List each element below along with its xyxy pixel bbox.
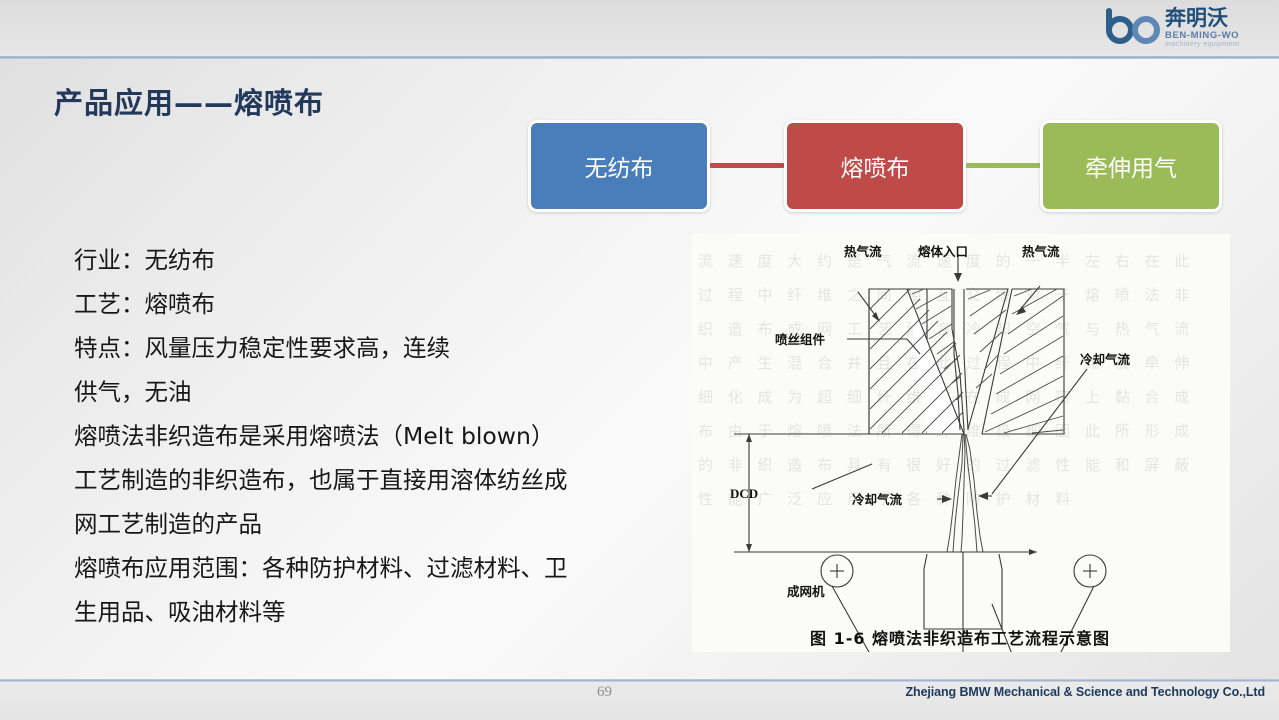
flow-box-meltblown[interactable]: 熔喷布 [784, 120, 966, 212]
body-line: 行业：无纺布 [74, 238, 674, 282]
body-text-block: 行业：无纺布 工艺：熔喷布 特点：风量压力稳定性要求高，连续 供气，无油 熔喷法… [74, 238, 674, 634]
figure-label-web-former-main: 成网机 [787, 584, 825, 599]
company-footer-text: Zhejiang BMW Mechanical & Science and Te… [906, 685, 1266, 699]
page-number: 69 [597, 684, 612, 701]
flow-connector-2 [966, 163, 1040, 168]
body-line: 熔喷法非织造布是采用熔喷法（Melt blown） [74, 414, 674, 458]
body-line: 特点：风量压力稳定性要求高，连续 [74, 326, 674, 370]
body-line: 熔喷布应用范围：各种防护材料、过滤材料、卫 [74, 546, 674, 590]
header-divider-line [0, 56, 1279, 59]
logo-text: 奔明沃 BEN-MING-WO machinery equipment [1165, 8, 1240, 49]
flow-box-nonwoven[interactable]: 无纺布 [528, 120, 710, 212]
figure-label-melt-inlet: 熔体入口 [918, 244, 968, 259]
logo-chinese-name: 奔明沃 [1165, 8, 1240, 29]
logo-pinyin: BEN-MING-WO [1165, 31, 1240, 41]
body-line: 工艺：熔喷布 [74, 282, 674, 326]
figure-label-cooling-air-right: 冷却气流 [1080, 352, 1131, 367]
process-flow-diagram: 无纺布 熔喷布 牵伸用气 [520, 116, 1232, 218]
body-line: 网工艺制造的产品 [74, 502, 674, 546]
flow-connector-1 [710, 163, 784, 168]
body-line: 生用品、吸油材料等 [74, 590, 674, 634]
body-line: 工艺制造的非织造布，也属于直接用溶体纺丝成 [74, 458, 674, 502]
figure-label-dcd: DCD [730, 486, 758, 501]
bo-monogram-icon [1103, 8, 1163, 48]
body-line: 供气，无油 [74, 370, 674, 414]
figure-label-cooling-air-center: 冷却气流 [852, 492, 903, 507]
header-band [0, 0, 1279, 57]
figure-label-spinneret: 喷丝组件 [775, 332, 826, 347]
page-title: 产品应用——熔喷布 [54, 80, 324, 122]
figure-label-hot-air-right: 热气流 [1022, 244, 1060, 259]
flow-box-drawing-air[interactable]: 牵伸用气 [1040, 120, 1222, 212]
figure-label-hot-air-left: 热气流 [844, 244, 882, 259]
meltblown-process-figure: 流 速 度 大 约 是 气 流 速 度 的 一 半 左 右 在 此 过 程 中 … [692, 234, 1230, 652]
slide-canvas: 奔明沃 BEN-MING-WO machinery equipment 产品应用… [0, 0, 1279, 720]
company-logo: 奔明沃 BEN-MING-WO machinery equipment [1103, 2, 1271, 54]
logo-tagline: machinery equipment [1165, 41, 1240, 48]
figure-vector-drawing: DCD [692, 234, 1230, 652]
